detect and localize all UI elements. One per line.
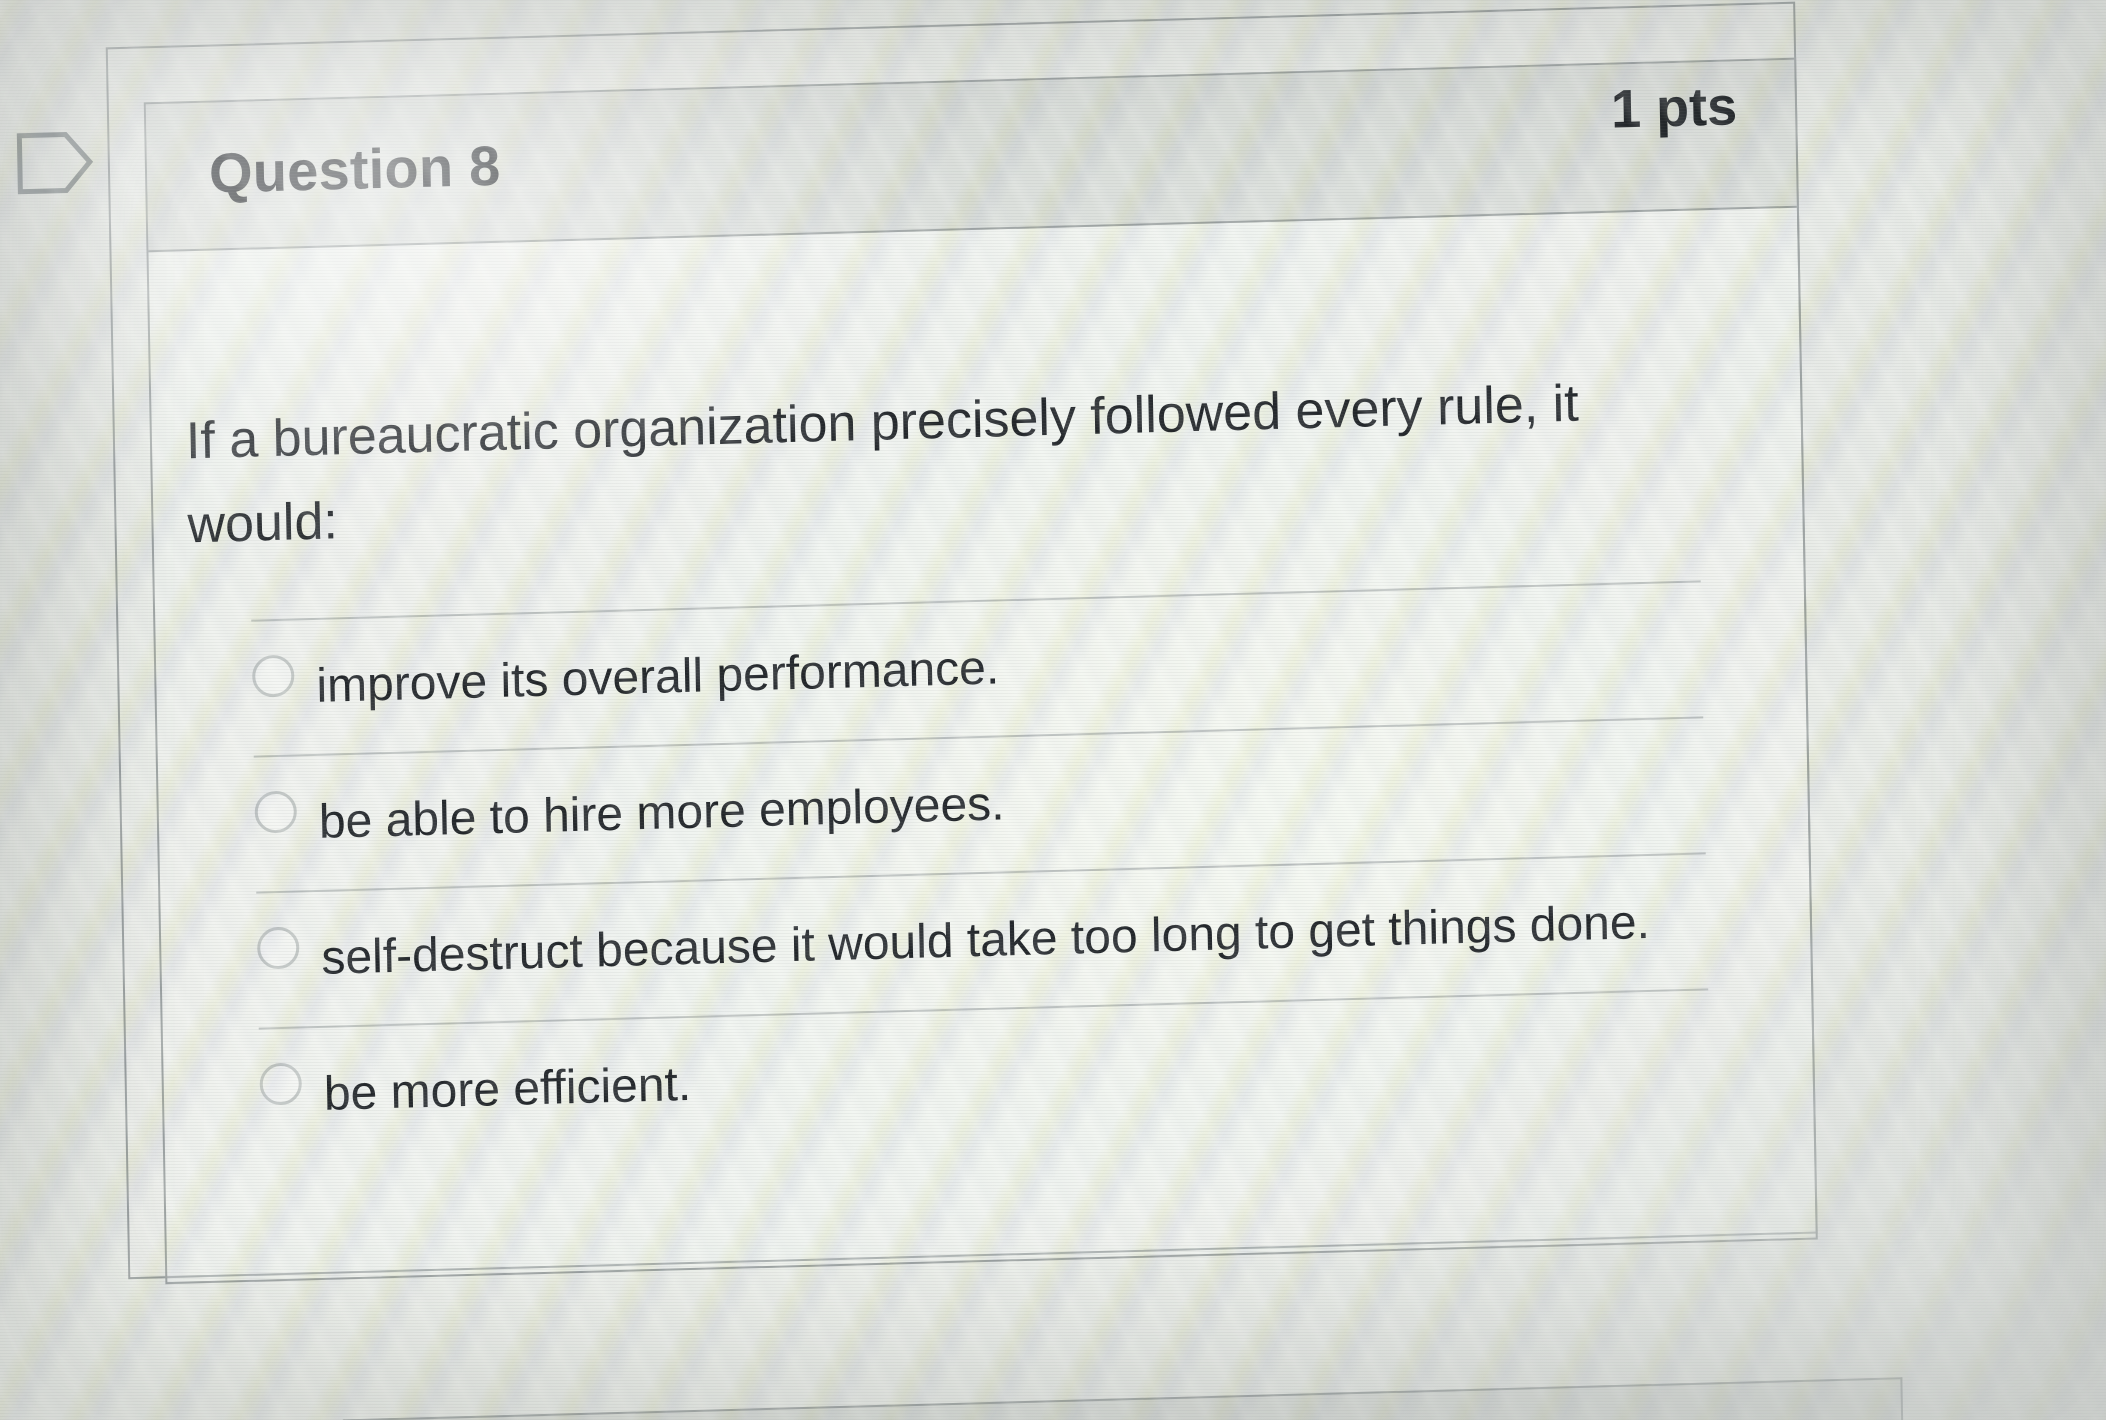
question-title: Question 8: [208, 133, 500, 206]
flag-question-icon[interactable]: [15, 130, 94, 196]
radio-button-icon[interactable]: [259, 1062, 302, 1105]
answer-option-label: be able to hire more employees.: [318, 763, 1005, 864]
question-points: 1 pts: [1610, 75, 1737, 140]
answer-options-list: improve its overall performance. be able…: [251, 580, 1710, 1163]
quiz-page: Question 8 1 pts If a bureaucratic organ…: [0, 0, 2106, 1420]
question-body: If a bureaucratic organization precisely…: [148, 208, 1815, 1282]
photographed-screen-scene: Question 8 1 pts If a bureaucratic organ…: [0, 0, 2106, 1420]
answer-option-label: self-destruct because it would take too …: [321, 882, 1651, 1000]
answer-option-label: improve its overall performance.: [316, 627, 1000, 727]
answer-option-label: be more efficient.: [323, 1044, 692, 1136]
question-prompt: If a bureaucratic organization precisely…: [185, 361, 1618, 568]
question-card: Question 8 1 pts If a bureaucratic organ…: [144, 58, 1818, 1285]
next-question-card-partial: [343, 1377, 1904, 1420]
radio-button-icon[interactable]: [254, 790, 297, 833]
radio-button-icon[interactable]: [252, 655, 295, 698]
radio-button-icon[interactable]: [257, 926, 300, 969]
